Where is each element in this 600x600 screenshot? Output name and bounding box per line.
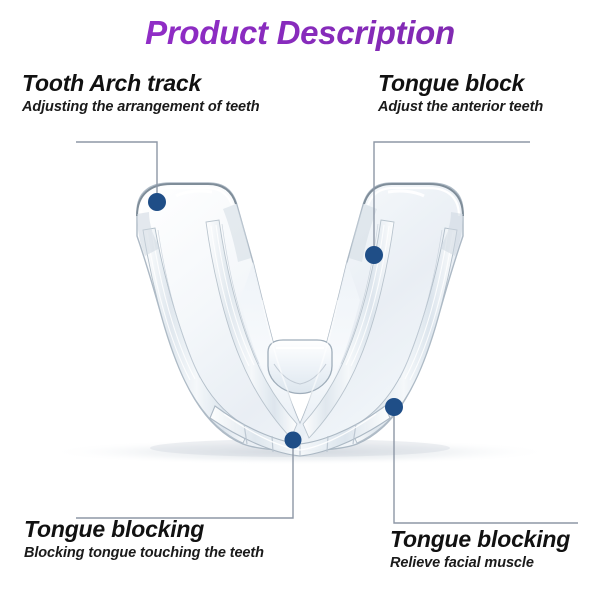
callout-title: Tongue blocking <box>24 517 264 542</box>
callout-title: Tooth Arch track <box>22 71 259 96</box>
callout-subtitle: Blocking tongue touching the teeth <box>24 545 264 562</box>
callout-title: Tongue block <box>378 71 543 96</box>
page-title: Product Description <box>0 14 600 52</box>
callout-title: Tongue blocking <box>390 527 570 552</box>
callout-subtitle: Adjust the anterior teeth <box>378 99 543 116</box>
callout-subtitle: Relieve facial muscle <box>390 555 570 572</box>
callout-tongue-blocking-right: Tongue blocking Relieve facial muscle <box>390 527 570 572</box>
callout-tongue-blocking-left: Tongue blocking Blocking tongue touching… <box>24 517 264 562</box>
product-description-infographic: Product Description Tooth Arch track Adj… <box>0 0 600 600</box>
callout-tooth-arch-track: Tooth Arch track Adjusting the arrangeme… <box>22 71 259 116</box>
callout-subtitle: Adjusting the arrangement of teeth <box>22 99 259 116</box>
callout-tongue-block: Tongue block Adjust the anterior teeth <box>378 71 543 116</box>
